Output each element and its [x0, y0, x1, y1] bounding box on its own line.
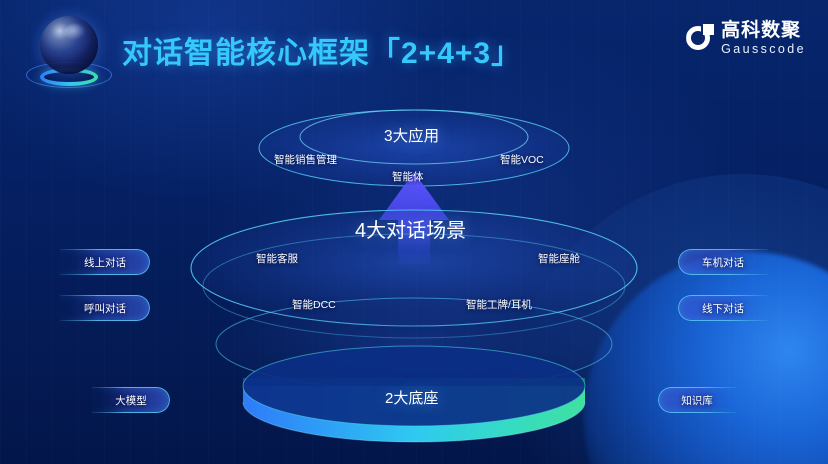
tier-applications-title: 3大应用 [384, 124, 439, 146]
scenario-item-badge-headset: 智能工牌/耳机 [466, 297, 532, 312]
connector-pill-knowledge-base[interactable]: 知识库 [658, 387, 736, 413]
connector-pill-label: 线上对话 [60, 255, 150, 270]
brand-square-icon [703, 24, 714, 35]
brand-name-cn: 高科数聚 [721, 21, 806, 40]
application-item-voc: 智能VOC [500, 152, 544, 167]
connector-pill-label: 呼叫对话 [60, 301, 150, 316]
page-title: 对话智能核心框架「2+4+3」 [122, 28, 522, 72]
scenario-item-dcc: 智能DCC [292, 297, 336, 312]
brand-name-en: Gausscode [721, 43, 806, 56]
gausscode-g-mark-icon [686, 24, 714, 52]
connector-pill-label: 知识库 [658, 393, 736, 408]
tier-foundation-title: 2大底座 [385, 387, 438, 408]
agent-label: 智能体 [392, 169, 424, 184]
connector-pill-label: 大模型 [92, 393, 170, 408]
framework-diagram: 3大应用 智能销售管理 智能VOC 智能体 4大对话场景 智能客服 智能座舱 智… [0, 96, 828, 464]
sphere-body-icon [40, 16, 98, 74]
connector-pill-online-dialog[interactable]: 线上对话 [60, 249, 150, 275]
tier-scenarios-title: 4大对话场景 [355, 214, 466, 243]
application-item-sales: 智能销售管理 [274, 152, 337, 167]
sphere-highlight-icon [64, 24, 86, 40]
connector-pill-label: 车机对话 [678, 255, 768, 270]
scenario-item-service: 智能客服 [256, 251, 298, 266]
connector-pill-large-model[interactable]: 大模型 [92, 387, 170, 413]
scenario-item-cockpit: 智能座舱 [538, 251, 580, 266]
brand-text: 高科数聚 Gausscode [721, 21, 806, 56]
slide-header: 对话智能核心框架「2+4+3」 高科数聚 Gausscode [0, 0, 828, 100]
connector-pill-call-dialog[interactable]: 呼叫对话 [60, 295, 150, 321]
connector-pill-offline-dialog[interactable]: 线下对话 [678, 295, 768, 321]
connector-pill-label: 线下对话 [678, 301, 768, 316]
sphere-logo-icon [26, 14, 112, 98]
connector-pill-vehicle-dialog[interactable]: 车机对话 [678, 249, 768, 275]
slide-canvas: 对话智能核心框架「2+4+3」 高科数聚 Gausscode [0, 0, 828, 464]
brand-logo: 高科数聚 Gausscode [686, 14, 806, 62]
